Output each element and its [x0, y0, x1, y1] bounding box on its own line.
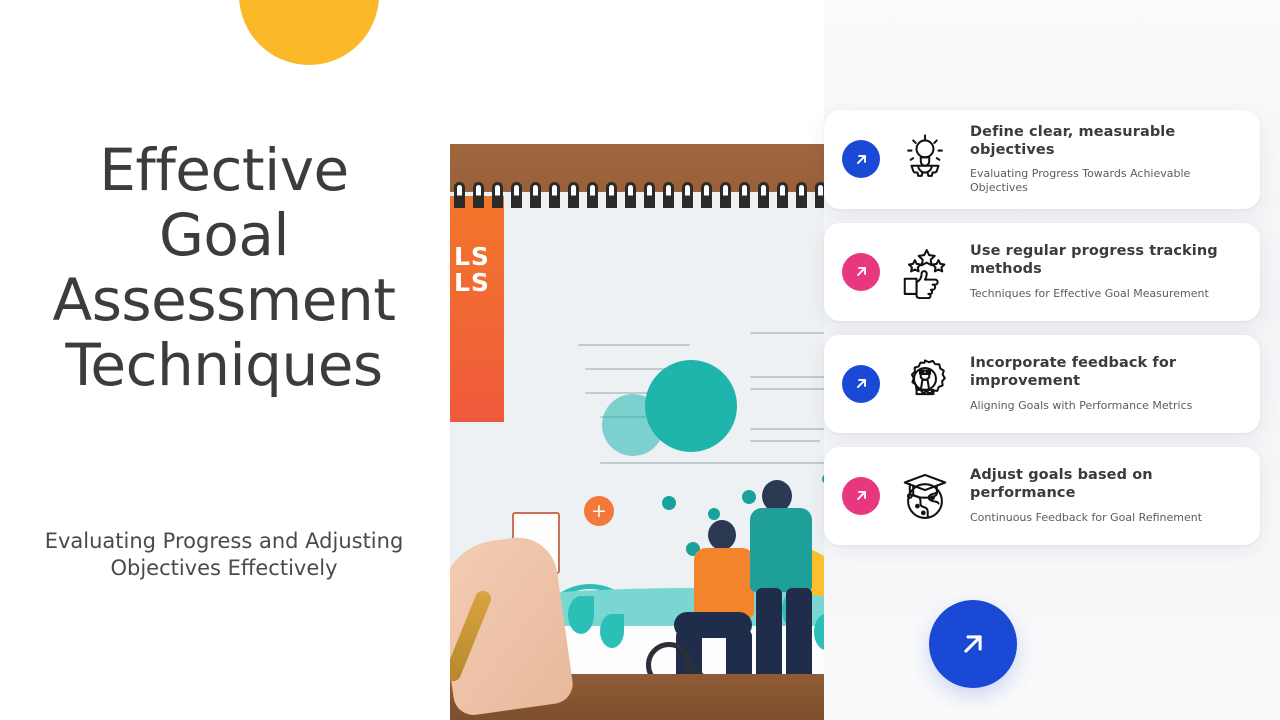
chess-gear-icon — [896, 355, 954, 413]
card-arrow-button[interactable] — [842, 253, 880, 291]
feature-card[interactable]: Use regular progress tracking methods Te… — [824, 223, 1260, 321]
teal-circle — [645, 360, 737, 452]
spiral-ring — [701, 182, 712, 208]
cover-tab-label: LS LS — [454, 244, 490, 297]
card-subtitle: Evaluating Progress Towards Achievable O… — [970, 167, 1242, 195]
feature-card[interactable]: Define clear, measurable objectives Eval… — [824, 110, 1260, 209]
feature-card[interactable]: Incorporate feedback for improvement Ali… — [824, 335, 1260, 433]
leaf-shape — [600, 614, 624, 648]
plus-badge: + — [584, 496, 614, 526]
arrow-up-right-icon — [853, 375, 870, 392]
arrow-up-right-icon — [853, 487, 870, 504]
sketch-line — [750, 388, 828, 390]
cover-tab-label-line2: LS — [454, 270, 490, 296]
feature-card[interactable]: Adjust goals based on performance Contin… — [824, 447, 1260, 545]
network-node — [662, 496, 676, 510]
card-title: Use regular progress tracking methods — [970, 243, 1242, 278]
cover-tab-label-line1: LS — [454, 244, 490, 270]
card-title: Define clear, measurable objectives — [970, 124, 1242, 159]
card-arrow-button[interactable] — [842, 140, 880, 178]
card-title: Adjust goals based on performance — [970, 467, 1242, 502]
spiral-ring — [682, 182, 693, 208]
network-node — [708, 508, 720, 520]
spiral-ring — [530, 182, 541, 208]
card-text: Define clear, measurable objectives Eval… — [970, 124, 1242, 195]
card-subtitle: Techniques for Effective Goal Measuremen… — [970, 287, 1242, 301]
orange-cover-tab — [450, 196, 504, 422]
card-title: Incorporate feedback for improvement — [970, 355, 1242, 390]
spiral-ring — [587, 182, 598, 208]
network-node — [742, 490, 756, 504]
spiral-ring — [473, 182, 484, 208]
sketch-line — [578, 344, 690, 346]
spiral-ring — [492, 182, 503, 208]
spiral-ring — [625, 182, 636, 208]
spiral-ring — [720, 182, 731, 208]
left-text-column: Effective Goal Assessment Techniques Eva… — [0, 0, 448, 720]
sketch-line — [750, 440, 820, 442]
person-torso — [750, 508, 812, 592]
card-text: Incorporate feedback for improvement Ali… — [970, 355, 1242, 412]
notebook-illustration-photo: LS LS — [450, 144, 856, 720]
feature-card-list: Define clear, measurable objectives Eval… — [824, 110, 1260, 545]
page-subtitle: Evaluating Progress and Adjusting Object… — [36, 528, 412, 582]
card-subtitle: Continuous Feedback for Goal Refinement — [970, 511, 1242, 525]
spiral-ring — [511, 182, 522, 208]
spiral-ring — [663, 182, 674, 208]
person-head — [708, 520, 736, 550]
cta-arrow-button[interactable] — [929, 600, 1017, 688]
slide-root: Effective Goal Assessment Techniques Eva… — [0, 0, 1280, 720]
spiral-ring — [606, 182, 617, 208]
person-legs — [756, 588, 782, 688]
photo-inner: LS LS — [450, 144, 856, 720]
sketch-line — [600, 462, 830, 464]
person-torso — [694, 548, 754, 618]
lightbulb-gear-icon — [896, 130, 954, 188]
leaf-shape — [568, 596, 594, 634]
card-text: Adjust goals based on performance Contin… — [970, 467, 1242, 524]
spiral-ring — [739, 182, 750, 208]
spiral-ring — [549, 182, 560, 208]
arrow-up-right-icon — [956, 627, 990, 661]
spiral-ring — [758, 182, 769, 208]
thumbs-up-stars-icon — [896, 243, 954, 301]
spiral-ring — [644, 182, 655, 208]
spiral-ring — [796, 182, 807, 208]
spiral-binding — [450, 182, 856, 208]
arrow-up-right-icon — [853, 151, 870, 168]
card-text: Use regular progress tracking methods Te… — [970, 243, 1242, 300]
spiral-ring — [568, 182, 579, 208]
arrow-up-right-icon — [853, 263, 870, 280]
card-arrow-button[interactable] — [842, 365, 880, 403]
person-legs — [786, 588, 812, 688]
page-title: Effective Goal Assessment Techniques — [36, 138, 412, 398]
spiral-ring — [777, 182, 788, 208]
globe-graduation-cap-icon — [896, 467, 954, 525]
card-subtitle: Aligning Goals with Performance Metrics — [970, 399, 1242, 413]
card-arrow-button[interactable] — [842, 477, 880, 515]
spiral-ring — [454, 182, 465, 208]
